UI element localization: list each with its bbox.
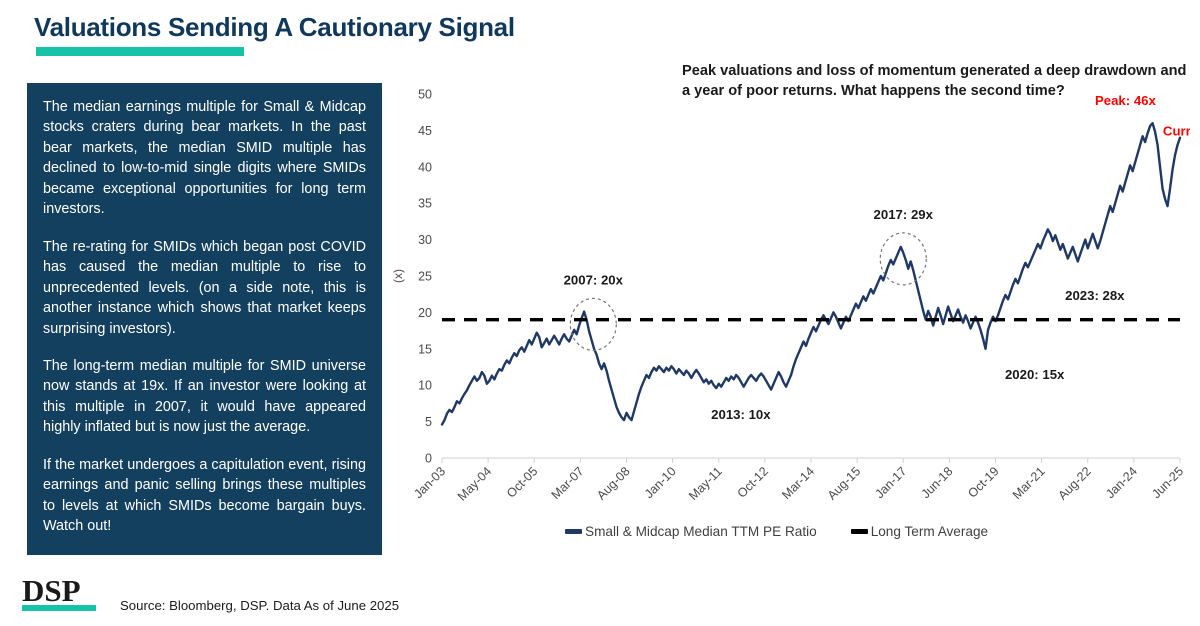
y-axis-tick-label: 0 [425, 452, 432, 466]
x-axis-tick-label: Mar-21 [1010, 464, 1048, 502]
y-axis-tick-label: 20 [418, 306, 432, 320]
x-axis-tick-label: Oct-05 [504, 464, 540, 500]
pe-ratio-line-chart: 05101520253035404550(x)Jan-03May-04Oct-0… [390, 80, 1190, 550]
x-axis-tick-label: Aug-22 [1055, 464, 1093, 502]
chart-annotation-label: 2007: 20x [564, 272, 624, 287]
y-axis-tick-label: 30 [418, 233, 432, 247]
y-axis-tick-label: 15 [418, 342, 432, 356]
legend-label: Small & Midcap Median TTM PE Ratio [585, 524, 817, 539]
x-axis-tick-label: Aug-08 [594, 464, 632, 502]
x-axis-tick-label: Oct-19 [965, 464, 1001, 500]
pe-ratio-series-line [442, 123, 1180, 424]
page-title: Valuations Sending A Cautionary Signal [34, 12, 515, 43]
chart-annotation-label: 2020: 15x [1005, 367, 1065, 382]
y-axis-tick-label: 35 [418, 197, 432, 211]
y-axis-tick-label: 25 [418, 270, 432, 284]
y-axis-title: (x) [391, 269, 405, 283]
title-accent-bar [36, 47, 244, 56]
legend-item[interactable]: Long Term Average [851, 524, 988, 539]
x-axis-tick-label: Oct-12 [735, 464, 771, 500]
x-axis-tick-label: Jan-03 [411, 464, 448, 501]
y-axis-tick-label: 5 [425, 415, 432, 429]
x-axis-tick-label: Jun-25 [1149, 464, 1186, 501]
annotation-highlight-circle [880, 233, 926, 285]
chart-annotation-label: 2023: 28x [1065, 288, 1125, 303]
y-axis-tick-label: 50 [418, 88, 432, 102]
chart-area: 05101520253035404550(x)Jan-03May-04Oct-0… [390, 80, 1190, 550]
x-axis-tick-label: Jan-10 [642, 464, 679, 501]
legend-swatch-icon [565, 529, 582, 534]
y-axis-tick-label: 10 [418, 379, 432, 393]
chart-legend: Small & Midcap Median TTM PE RatioLong T… [565, 524, 1015, 539]
source-note: Source: Bloomberg, DSP. Data As of June … [120, 598, 399, 613]
x-axis-tick-label: Jan-17 [872, 464, 909, 501]
x-axis-tick-label: May-04 [455, 464, 494, 503]
y-axis-tick-label: 45 [418, 124, 432, 138]
commentary-paragraph: If the market undergoes a capitulation e… [43, 455, 366, 537]
x-axis-tick-label: Mar-07 [549, 464, 587, 502]
dsp-logo: DSP [22, 575, 81, 606]
legend-item[interactable]: Small & Midcap Median TTM PE Ratio [565, 524, 817, 539]
chart-annotation-label: Current: 44x [1163, 124, 1190, 139]
legend-label: Long Term Average [871, 524, 988, 539]
commentary-paragraph: The re-rating for SMIDs which began post… [43, 237, 366, 339]
commentary-paragraph: The long-term median multiple for SMID u… [43, 356, 366, 438]
chart-annotation-label: 2017: 29x [874, 207, 934, 222]
x-axis-tick-label: Aug-15 [825, 464, 863, 502]
x-axis-tick-label: Jan-24 [1103, 464, 1140, 501]
legend-swatch-icon [851, 529, 868, 534]
x-axis-tick-label: May-11 [686, 464, 725, 503]
y-axis-tick-label: 40 [418, 160, 432, 174]
chart-annotation-label: 2013: 10x [711, 407, 771, 422]
x-axis-tick-label: Jun-18 [919, 464, 956, 501]
chart-annotation-label: Peak: 46x [1095, 93, 1157, 108]
commentary-paragraph: The median earnings multiple for Small &… [43, 97, 366, 220]
commentary-panel: The median earnings multiple for Small &… [27, 83, 382, 555]
x-axis-tick-label: Mar-14 [779, 464, 817, 502]
logo-accent-bar [22, 605, 96, 611]
